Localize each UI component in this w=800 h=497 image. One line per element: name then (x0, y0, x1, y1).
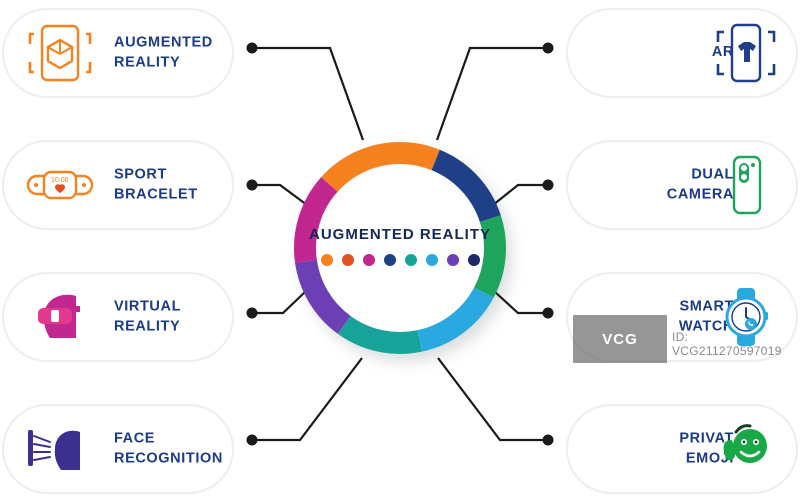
card-ar[interactable]: AR (566, 8, 798, 98)
phone-dual-camera-icon (710, 154, 782, 216)
face-scan-icon (24, 418, 96, 480)
card-privat-emoji[interactable]: PRIVAT EMOJI (566, 404, 798, 494)
legend-dot-5 (426, 254, 438, 266)
card-label: SPORT BRACELET (114, 165, 198, 204)
card-face-recognition[interactable]: FACE RECOGNITION (2, 404, 234, 494)
legend-dot-2 (363, 254, 375, 266)
legend-dot-6 (447, 254, 459, 266)
card-virtual-reality[interactable]: VIRTUAL REALITY (2, 272, 234, 362)
fitness-band-icon: 10:00 (24, 154, 96, 216)
vr-headset-head-icon (24, 286, 96, 348)
svg-text:10:00: 10:00 (51, 177, 69, 184)
card-sport-bracelet[interactable]: 10:00 SPORT BRACELET (2, 140, 234, 230)
ar-tshirt-scan-icon (710, 22, 782, 84)
donut-segment-augmented-reality[interactable] (400, 153, 436, 160)
legend-dot-0 (321, 254, 333, 266)
center-dot-row (305, 254, 495, 266)
legend-dot-3 (384, 254, 396, 266)
ar-scan-cube-icon (24, 22, 96, 84)
watermark-badge: VCG (573, 315, 667, 363)
watermark-id: ID: VCG211270597019 (672, 330, 800, 358)
watermark-brand: VCG (602, 332, 638, 347)
emoji-avatar-icon (710, 418, 782, 480)
card-label: VIRTUAL REALITY (114, 297, 181, 336)
card-label: AUGMENTED REALITY (114, 33, 213, 72)
legend-dot-7 (468, 254, 480, 266)
infographic-canvas: AUGMENTED REALITY AUGMENTED REALITY 10:0… (0, 0, 800, 497)
center-title: AUGMENTED REALITY (290, 226, 510, 243)
legend-dot-4 (405, 254, 417, 266)
card-augmented-reality[interactable]: AUGMENTED REALITY (2, 8, 234, 98)
card-dual-camera[interactable]: DUAL CAMERA (566, 140, 798, 230)
legend-dot-1 (342, 254, 354, 266)
card-label: FACE RECOGNITION (114, 429, 223, 468)
